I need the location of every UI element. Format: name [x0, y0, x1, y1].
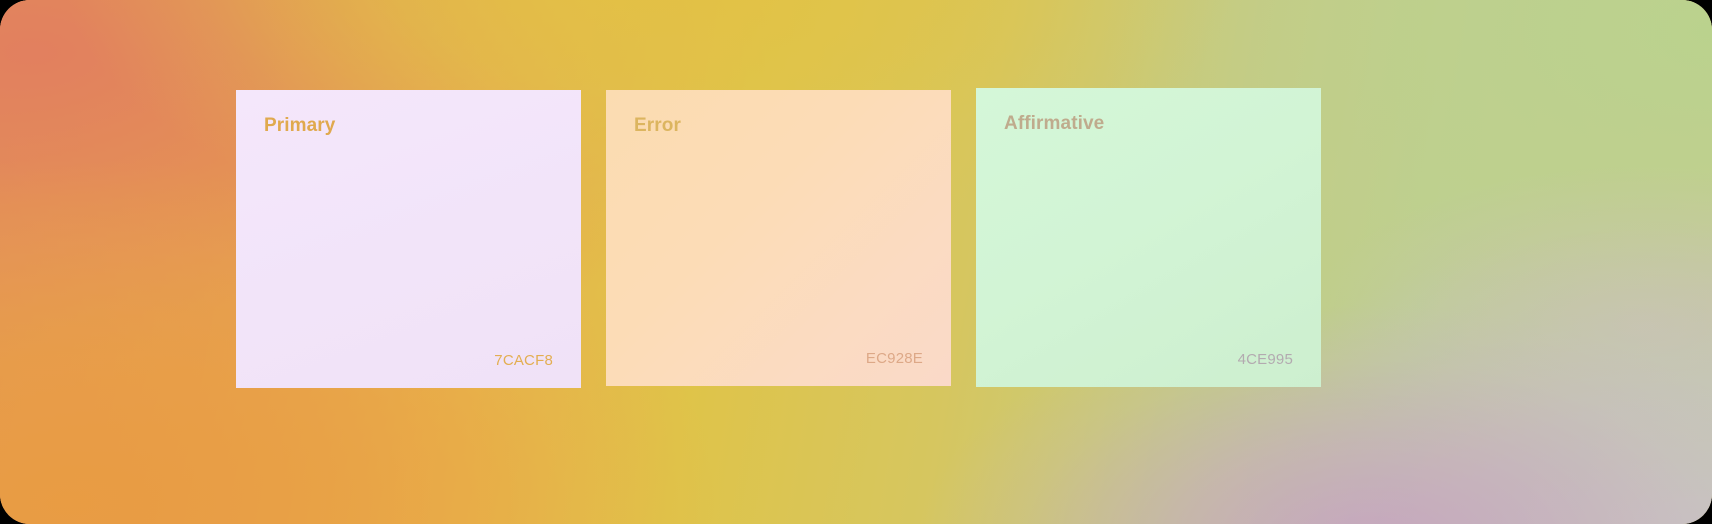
color-palette-canvas: Primary 7CACF8 Error EC928E Affirmative … [0, 0, 1712, 524]
swatch-card-affirmative[interactable]: Affirmative 4CE995 [976, 88, 1321, 387]
swatch-hex-affirmative: 4CE995 [1238, 352, 1293, 367]
swatch-card-error[interactable]: Error EC928E [606, 90, 951, 386]
swatch-title-primary: Primary [264, 116, 553, 135]
swatch-group: Primary 7CACF8 Error EC928E Affirmative … [0, 0, 1712, 524]
swatch-title-affirmative: Affirmative [1004, 114, 1293, 133]
swatch-hex-primary: 7CACF8 [494, 353, 553, 368]
swatch-hex-error: EC928E [866, 351, 923, 366]
swatch-title-error: Error [634, 116, 923, 135]
swatch-card-primary[interactable]: Primary 7CACF8 [236, 90, 581, 388]
